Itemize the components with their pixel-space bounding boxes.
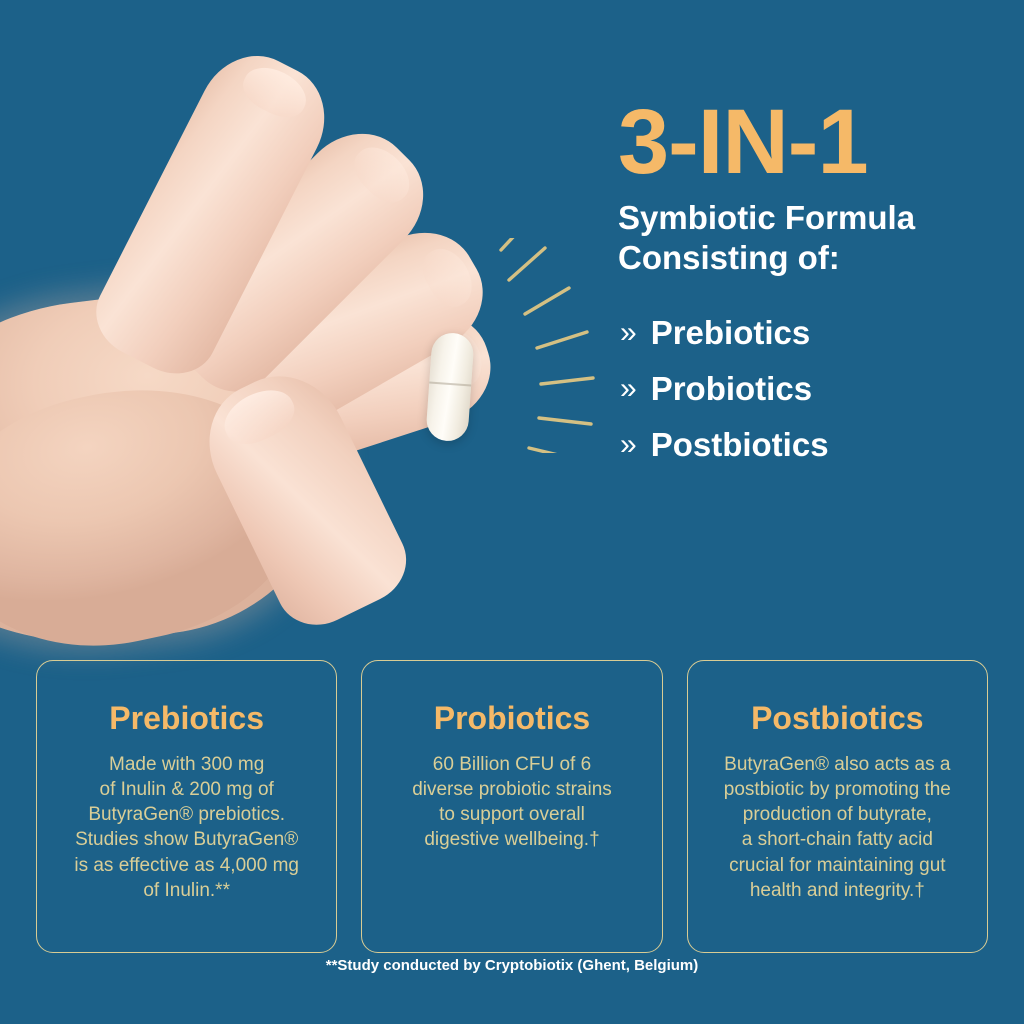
list-item-postbiotics: » Postbiotics xyxy=(620,428,1000,461)
list-item-label: Postbiotics xyxy=(651,428,829,461)
footnote: **Study conducted by Cryptobiotix (Ghent… xyxy=(0,957,1024,974)
card-title: Prebiotics xyxy=(51,701,322,736)
subtitle-line-2: Consisting of: xyxy=(618,238,1008,278)
card-body: 60 Billion CFU of 6 diverse probiotic st… xyxy=(376,752,647,852)
card-body: Made with 300 mg of Inulin & 200 mg of B… xyxy=(51,752,322,902)
card-title: Probiotics xyxy=(376,701,647,736)
infographic-canvas: 3-IN-1 Symbiotic Formula Consisting of: … xyxy=(0,0,1024,1024)
info-cards-row: Prebiotics Made with 300 mg of Inulin & … xyxy=(36,660,988,953)
card-title: Postbiotics xyxy=(702,701,973,736)
card-body: ButyraGen® also acts as a postbiotic by … xyxy=(702,752,973,902)
card-prebiotics: Prebiotics Made with 300 mg of Inulin & … xyxy=(36,660,337,953)
page-title: 3-IN-1 xyxy=(618,96,1008,188)
list-item-label: Prebiotics xyxy=(651,316,811,349)
capsule-pill xyxy=(425,332,474,443)
benefits-list: » Prebiotics » Probiotics » Postbiotics xyxy=(620,316,1000,484)
list-item-prebiotics: » Prebiotics xyxy=(620,316,1000,349)
headline-block: 3-IN-1 Symbiotic Formula Consisting of: xyxy=(618,96,1008,277)
card-probiotics: Probiotics 60 Billion CFU of 6 diverse p… xyxy=(361,660,662,953)
card-postbiotics: Postbiotics ButyraGen® also acts as a po… xyxy=(687,660,988,953)
subtitle-line-1: Symbiotic Formula xyxy=(618,198,1008,238)
list-item-label: Probiotics xyxy=(651,372,812,405)
radiating-sparkle-lines-icon xyxy=(495,238,640,453)
capsule-seam xyxy=(429,381,471,386)
list-item-probiotics: » Probiotics xyxy=(620,372,1000,405)
hand-holding-capsule-image xyxy=(0,0,530,660)
subtitle: Symbiotic Formula Consisting of: xyxy=(618,198,1008,277)
